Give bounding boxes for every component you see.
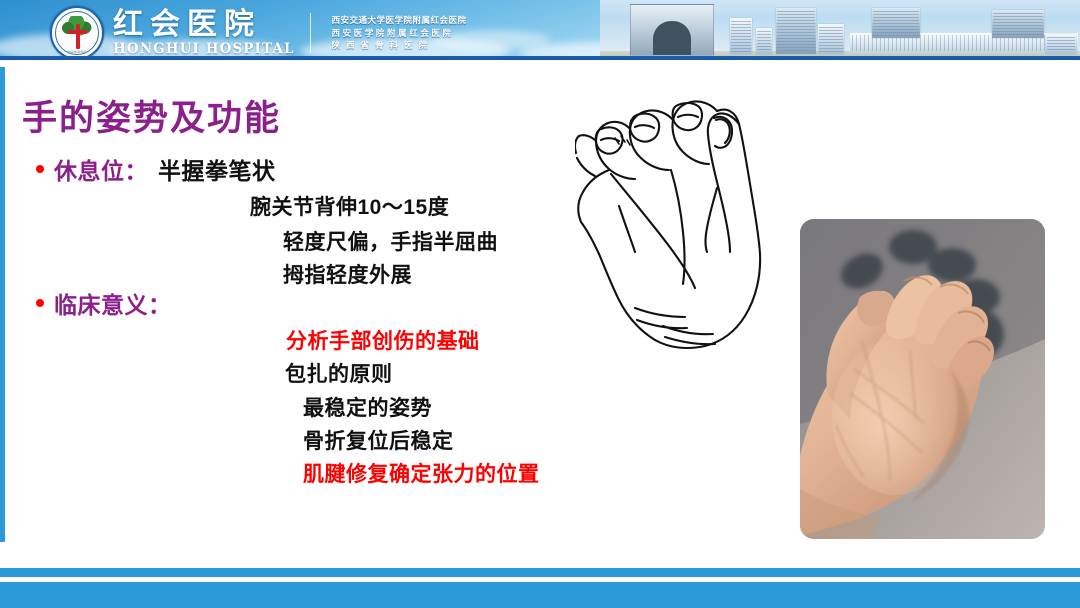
bullet-dot-icon [36,165,44,173]
bullet-clinical-significance: 临床意义： [36,286,172,320]
emblem-label: HONGHUI [52,50,102,54]
red-cross-icon [76,24,80,49]
panorama-building [992,10,1044,38]
rest-detail-line-1: 腕关节背伸10～15度 [250,191,449,221]
clinical-line-1: 分析手部创伤的基础 [286,325,480,355]
gate-arch [653,21,691,55]
panorama-building [1046,34,1076,54]
panorama-building [776,8,816,54]
affiliation-line-1: 西安交通大学医学院附属红会医院 [332,15,467,26]
bullet-dot-icon [36,299,44,307]
slide-canvas: HONGHUI 红会医院 HONGHUI HOSPITAL 西安交通大学医学院附… [0,0,1080,608]
clinical-line-3: 最稳定的姿势 [303,392,432,422]
footer-accent-bar-thin [0,568,1080,577]
left-accent-border [0,67,5,542]
hospital-panorama-image [600,0,1080,60]
affiliation-line-2: 西安医学院附属红会医院 [332,28,467,39]
header-accent-bar [0,56,1080,60]
bullet-rest-value: 半握拳笔状 [158,152,276,186]
clinical-line-2: 包扎的原则 [285,358,393,388]
affiliation-list: 西安交通大学医学院附属红会医院 西安医学院附属红会医院 陕西省骨科医院 [332,15,467,51]
footer-accent-bar-thick [0,582,1080,608]
rest-detail-line-3: 拇指轻度外展 [283,259,412,289]
hospital-logo: HONGHUI 红会医院 HONGHUI HOSPITAL 西安交通大学医学院附… [50,6,467,60]
red-cross-icon [68,30,87,34]
affiliation-line-3: 陕西省骨科医院 [332,40,467,51]
clinical-line-4: 骨折复位后稳定 [303,425,454,455]
header-banner: HONGHUI 红会医院 HONGHUI HOSPITAL 西安交通大学医学院附… [0,0,1080,60]
clinical-line-5: 肌腱修复确定张力的位置 [303,458,540,488]
hand-photo-render [800,219,1045,539]
logo-english-name: HONGHUI HOSPITAL [113,43,295,57]
panorama-building [756,28,772,54]
hospital-emblem-icon: HONGHUI [50,6,104,60]
bullet-clinical-label: 临床意义： [54,286,172,320]
panorama-building [818,24,844,54]
hand-rest-position-photo [800,219,1045,539]
bullet-rest-label: 休息位： [54,152,148,186]
page-title: 手的姿势及功能 [22,90,281,141]
panorama-building [872,8,920,38]
panorama-building [730,18,752,54]
gate-building [630,4,714,56]
logo-chinese-name: 红会医院 [113,10,295,40]
hand-line-drawing [575,78,805,378]
logo-text-block: 红会医院 HONGHUI HOSPITAL [113,10,295,57]
rest-detail-line-2: 轻度尺偏，手指半屈曲 [283,226,498,256]
bullet-rest-position: 休息位： 半握拳笔状 [36,152,276,186]
logo-divider [310,13,311,53]
